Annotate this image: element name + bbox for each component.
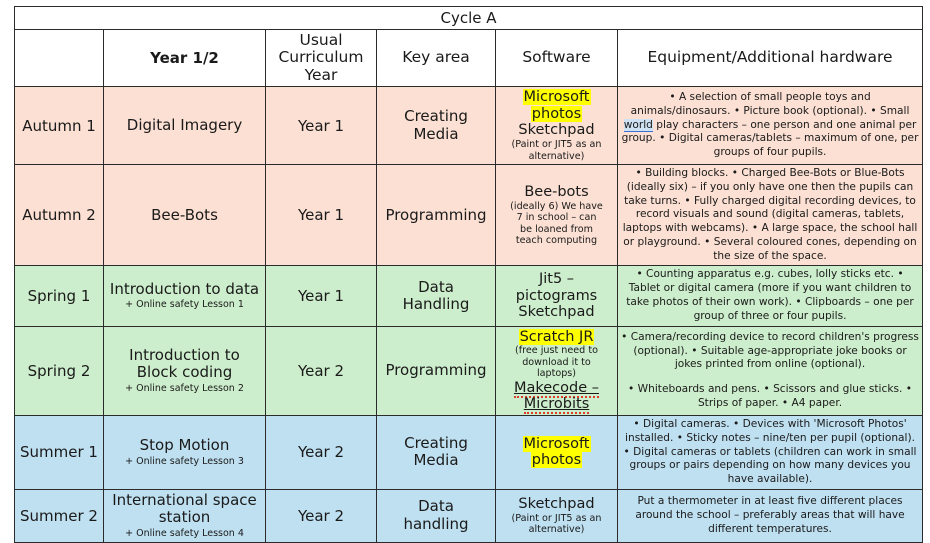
unit-title: Stop Motion — [140, 436, 230, 454]
key-area-line-2: Handling — [380, 296, 492, 313]
software-note-line-2: 7 in school – can — [499, 212, 614, 224]
row-equipment: • A selection of small people toys and a… — [618, 87, 923, 165]
header-ucy-line-3: Year — [269, 67, 373, 84]
software-highlight-line-1: Microsoft — [523, 436, 591, 452]
row-key-area: Data Handling — [377, 266, 496, 326]
row-software: Microsoft photos — [496, 416, 618, 490]
row-year: Year 2 — [266, 489, 377, 542]
software-highlight-line-2: photos — [531, 452, 582, 468]
table-row: Autumn 1 Digital Imagery Year 1 Creating… — [15, 87, 923, 165]
key-area-line-2: Media — [380, 452, 492, 469]
table-row: Spring 1 Introduction to data + Online s… — [15, 266, 923, 326]
row-year: Year 1 — [266, 165, 377, 266]
row-software: Scratch JR (free just need to download i… — [496, 326, 618, 416]
row-equipment: • Camera/recording device to record chil… — [618, 326, 923, 416]
row-software: Sketchpad (Paint or JIT5 as an alternati… — [496, 489, 618, 542]
software-plain-line-1: Sketchpad — [499, 496, 614, 513]
equipment-spacer — [621, 372, 919, 383]
key-area-line-1: Data — [380, 498, 492, 515]
row-key-area: Creating Media — [377, 416, 496, 490]
software-plain-line-3: Sketchpad — [499, 304, 614, 321]
cycle-title: Cycle A — [15, 7, 923, 30]
row-year: Year 1 — [266, 87, 377, 165]
header-usual-curriculum-year: Usual Curriculum Year — [266, 30, 377, 87]
row-equipment: • Counting apparatus e.g. cubes, lolly s… — [618, 266, 923, 326]
software-note-line-2: alternative) — [499, 151, 614, 163]
table-row: Autumn 2 Bee-Bots Year 1 Programming Bee… — [15, 165, 923, 266]
row-software: Bee-bots (ideally 6) We have 7 in school… — [496, 165, 618, 266]
software-plain-line-2: pictograms — [499, 288, 614, 305]
row-unit: Introduction to Block coding + Online sa… — [104, 326, 266, 416]
row-unit: Bee-Bots — [104, 165, 266, 266]
equipment-text-a: • A selection of small people toys and a… — [631, 91, 910, 117]
software-note-line-2: download it to — [499, 357, 614, 369]
software-note-line-3: be loaned from — [499, 224, 614, 236]
unit-note: + Online safety Lesson 2 — [107, 383, 262, 395]
row-term: Summer 2 — [15, 489, 104, 542]
header-ucy-line-2: Curriculum — [269, 49, 373, 66]
key-area-line-2: Media — [380, 126, 492, 143]
row-term: Summer 1 — [15, 416, 104, 490]
key-area-line-2: handling — [380, 516, 492, 533]
key-area-line-1: Creating — [380, 108, 492, 125]
software-note-line-1: (free just need to — [499, 345, 614, 357]
software-note-line-3: laptops) — [499, 368, 614, 380]
table-row: Summer 2 International space station + O… — [15, 489, 923, 542]
row-equipment: • Digital cameras. • Devices with 'Micro… — [618, 416, 923, 490]
row-unit: Stop Motion + Online safety Lesson 3 — [104, 416, 266, 490]
row-term: Autumn 1 — [15, 87, 104, 165]
row-term: Spring 1 — [15, 266, 104, 326]
software-note-line-1: (Paint or JIT5 as an — [499, 513, 614, 525]
column-header-row: Year 1/2 Usual Curriculum Year Key area … — [15, 30, 923, 87]
software-extra-line-2: Microbits — [524, 396, 590, 414]
software-note-line-1: (Paint or JIT5 as an — [499, 139, 614, 151]
software-plain-line-1: Sketchpad — [499, 122, 614, 139]
unit-note: + Online safety Lesson 3 — [107, 456, 262, 468]
spellcheck-word: world — [624, 119, 653, 132]
row-equipment: Put a thermometer in at least five diffe… — [618, 489, 923, 542]
row-unit: International space station + Online saf… — [104, 489, 266, 542]
unit-title: International space station — [112, 491, 257, 526]
row-year: Year 1 — [266, 266, 377, 326]
software-note-line-1: (ideally 6) We have — [499, 201, 614, 213]
header-year-group: Year 1/2 — [104, 30, 266, 87]
row-key-area: Creating Media — [377, 87, 496, 165]
header-ucy-line-1: Usual — [269, 32, 373, 49]
header-term — [15, 30, 104, 87]
software-highlight-line-1: Scratch JR — [519, 329, 595, 345]
header-equipment: Equipment/Additional hardware — [618, 30, 923, 87]
curriculum-overview-table: Cycle A Year 1/2 Usual Curriculum Year K… — [14, 6, 923, 543]
unit-note: + Online safety Lesson 1 — [107, 299, 262, 311]
row-term: Spring 2 — [15, 326, 104, 416]
software-plain-line-1: Jit5 – — [499, 271, 614, 288]
row-year: Year 2 — [266, 416, 377, 490]
row-key-area: Data handling — [377, 489, 496, 542]
table-row: Summer 1 Stop Motion + Online safety Les… — [15, 416, 923, 490]
key-area-line-1: Creating — [380, 435, 492, 452]
key-area-line-1: Data — [380, 279, 492, 296]
row-key-area: Programming — [377, 165, 496, 266]
equipment-part-1: • Camera/recording device to record chil… — [621, 331, 919, 371]
software-highlight-line-1: Microsoft — [523, 89, 591, 105]
header-software: Software — [496, 30, 618, 87]
row-year: Year 2 — [266, 326, 377, 416]
row-unit: Digital Imagery — [104, 87, 266, 165]
unit-note: + Online safety Lesson 4 — [107, 528, 262, 540]
software-note-line-2: alternative) — [499, 524, 614, 536]
software-highlight-line-2: photos — [531, 106, 582, 122]
software-plain-line-1: Bee-bots — [499, 184, 614, 201]
software-note-line-4: teach computing — [499, 235, 614, 247]
software-extra-line-1: Makecode – — [514, 380, 599, 398]
unit-title: Introduction to data — [110, 280, 259, 298]
row-software: Microsoft photos Sketchpad (Paint or JIT… — [496, 87, 618, 165]
equipment-text-b: play characters – one person and one ani… — [622, 119, 919, 159]
curriculum-plan-sheet: Cycle A Year 1/2 Usual Curriculum Year K… — [0, 0, 930, 541]
cycle-title-row: Cycle A — [15, 7, 923, 30]
row-software: Jit5 – pictograms Sketchpad — [496, 266, 618, 326]
row-equipment: • Building blocks. • Charged Bee-Bots or… — [618, 165, 923, 266]
unit-title: Introduction to Block coding — [129, 346, 240, 381]
row-key-area: Programming — [377, 326, 496, 416]
row-term: Autumn 2 — [15, 165, 104, 266]
header-key-area: Key area — [377, 30, 496, 87]
table-row: Spring 2 Introduction to Block coding + … — [15, 326, 923, 416]
equipment-part-2: • Whiteboards and pens. • Scissors and g… — [628, 383, 912, 409]
row-unit: Introduction to data + Online safety Les… — [104, 266, 266, 326]
